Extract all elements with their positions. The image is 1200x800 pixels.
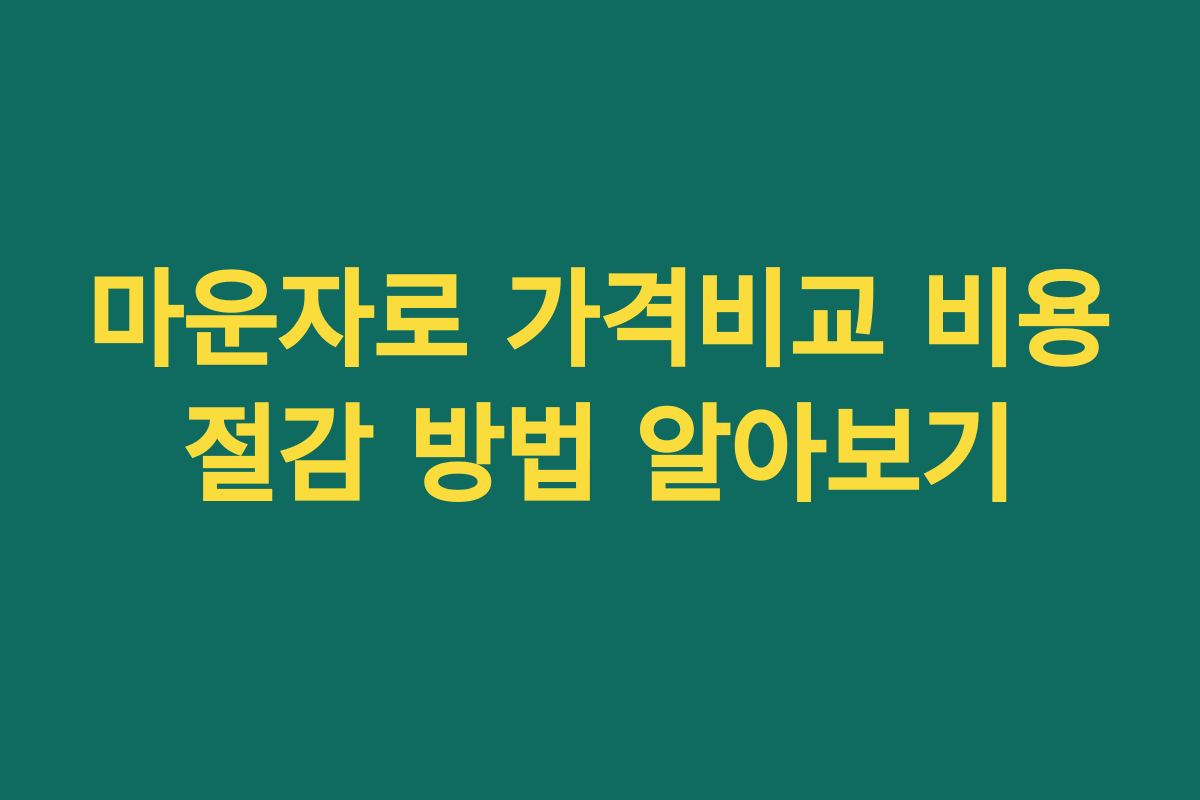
headline-line-2: 절감 방법 알아보기 (40, 388, 1160, 523)
thumbnail-banner: 마운자로 가격비교 비용 절감 방법 알아보기 (0, 0, 1200, 800)
headline-line-1: 마운자로 가격비교 비용 (40, 253, 1160, 388)
headline-block: 마운자로 가격비교 비용 절감 방법 알아보기 (0, 253, 1200, 523)
